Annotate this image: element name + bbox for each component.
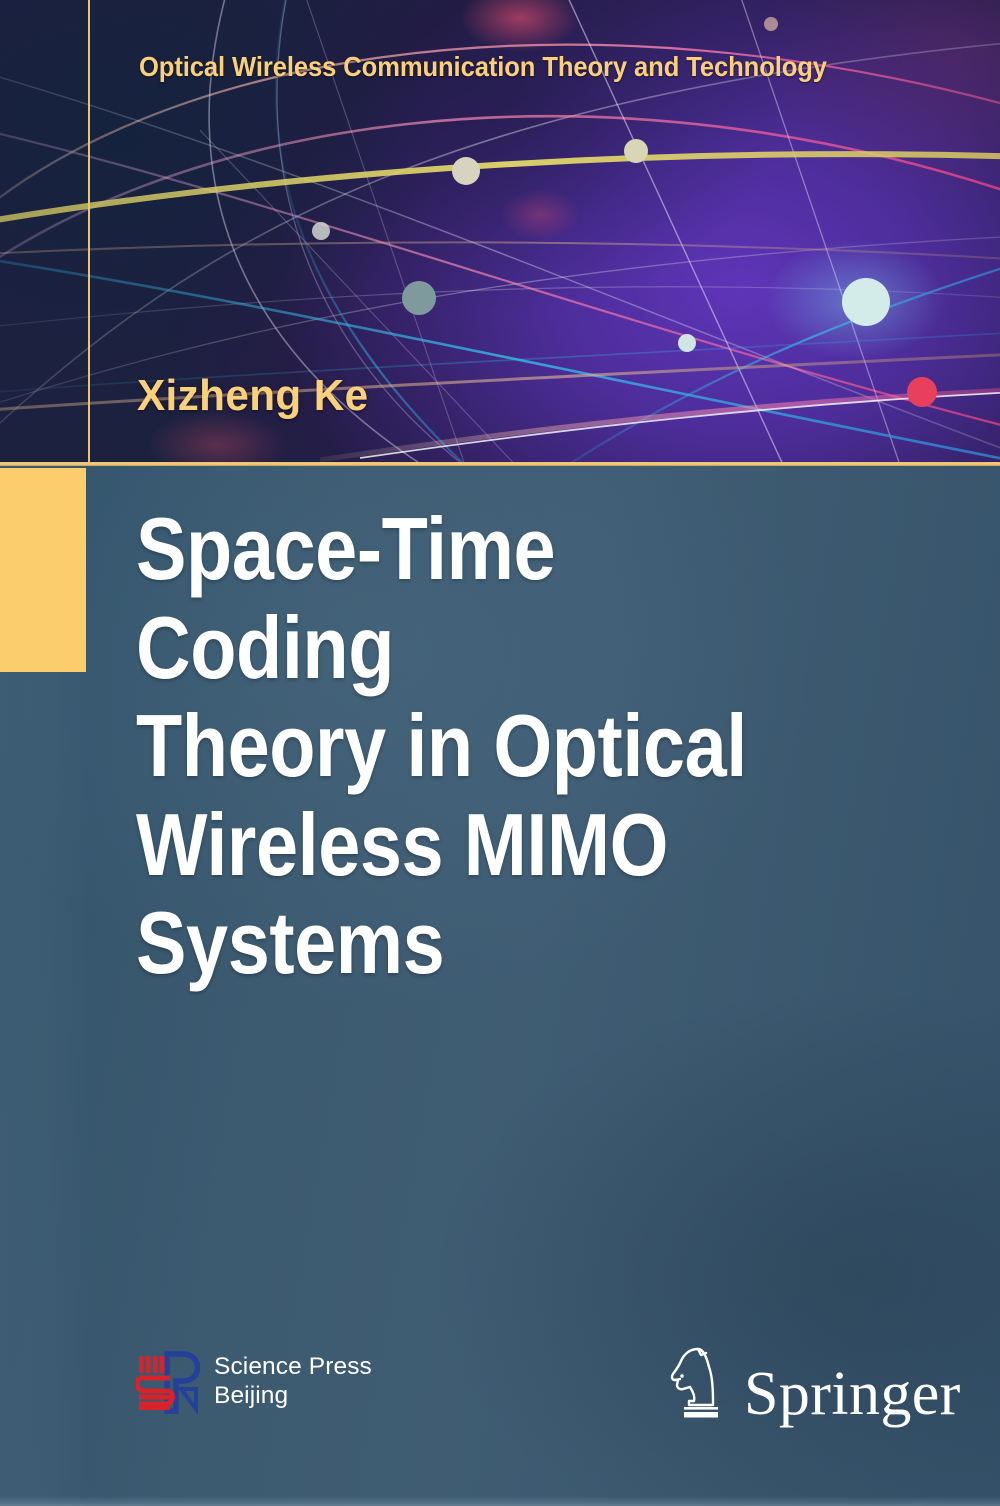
science-press-logo: Science Press Beijing <box>136 1349 372 1415</box>
science-press-line-1: Science Press <box>214 1353 372 1382</box>
book-title-line-1: Space-Time Coding <box>136 500 815 697</box>
vertical-accent-rule <box>88 0 90 466</box>
springer-knight-horse-icon <box>668 1343 728 1423</box>
springer-wordmark: Springer <box>744 1366 961 1423</box>
series-title: Optical Wireless Communication Theory an… <box>139 52 902 82</box>
springer-logo: Springer <box>668 1343 961 1423</box>
book-title-line-3: Wireless MIMO <box>136 796 815 895</box>
yellow-accent-block <box>0 468 86 672</box>
science-press-line-2: Beijing <box>214 1382 372 1411</box>
book-cover: Optical Wireless Communication Theory an… <box>0 0 1000 1506</box>
science-press-sp-monogram-icon <box>136 1349 200 1415</box>
bottom-edge-highlight <box>0 1496 1000 1506</box>
book-title-line-2: Theory in Optical <box>136 697 815 796</box>
horizontal-accent-rule <box>0 462 1000 466</box>
book-title: Space-Time Coding Theory in Optical Wire… <box>136 500 815 993</box>
book-title-line-4: Systems <box>136 894 815 993</box>
author-name: Xizheng Ke <box>137 371 369 421</box>
science-press-wordmark: Science Press Beijing <box>214 1353 372 1410</box>
